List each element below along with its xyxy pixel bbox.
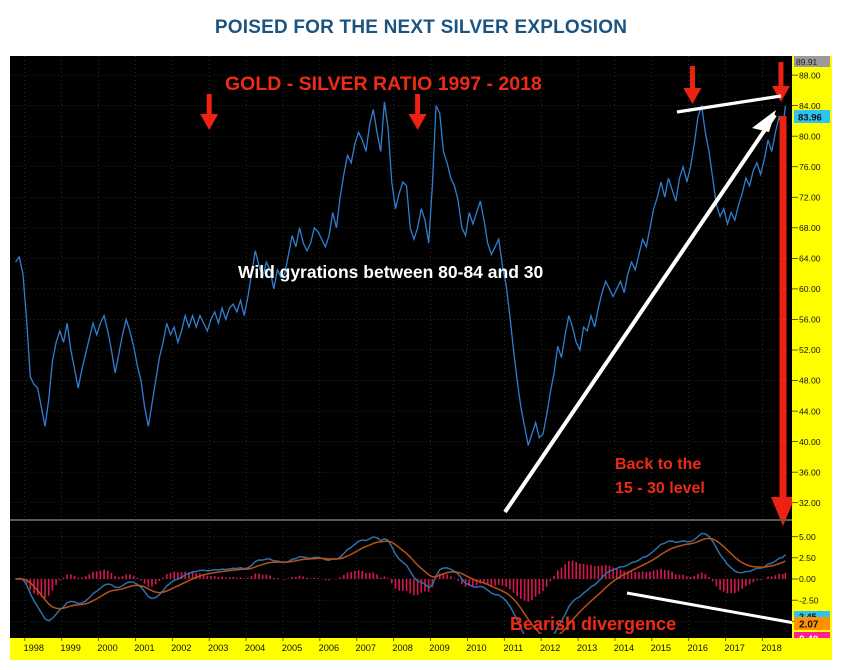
date-tick-label: 2014	[614, 643, 634, 653]
price-tick-label: 40.00	[799, 437, 821, 447]
date-tick-label: 2010	[466, 643, 486, 653]
date-tick-label: 2003	[208, 643, 228, 653]
macd-value-label: 2.07	[799, 620, 819, 631]
wild-gyrations-note: Wild gyrations between 80-84 and 30	[238, 262, 543, 282]
price-tick-label: 44.00	[799, 406, 821, 416]
date-tick-label: 2011	[503, 643, 523, 653]
date-tick-label: 2012	[540, 643, 560, 653]
price-tick-label: 48.00	[799, 376, 821, 386]
date-tick-label: 2007	[356, 643, 376, 653]
price-tick-label: 60.00	[799, 284, 821, 294]
date-tick-label: 2013	[577, 643, 597, 653]
price-tick-label: 84.00	[799, 101, 821, 111]
target-note-line2: 15 - 30 level	[615, 480, 705, 497]
top-value-label: 89.91	[796, 57, 818, 67]
date-tick-label: 2006	[319, 643, 339, 653]
price-tick-label: 64.00	[799, 254, 821, 264]
macd-tick-label: 0.00	[799, 574, 816, 584]
price-tick-label: 68.00	[799, 223, 821, 233]
date-tick-label: 2002	[171, 643, 191, 653]
date-tick-label: 2008	[392, 643, 412, 653]
price-tick-label: 80.00	[799, 131, 821, 141]
date-tick-label: 2018	[761, 643, 781, 653]
date-tick-label: 2015	[651, 643, 671, 653]
top-value-badge: 89.91	[794, 56, 830, 67]
date-tick-label: 1998	[24, 643, 44, 653]
price-tick-label: 76.00	[799, 162, 821, 172]
date-tick-label: 2000	[97, 643, 117, 653]
date-axis-overlay: 1998199920002001200220032004200520062007…	[10, 638, 832, 660]
macd-tick-label: -2.50	[799, 595, 819, 605]
price-tick-label: 52.00	[799, 345, 821, 355]
chart-container: GOLD - SILVER RATIO 1997 - 2018 Wild gyr…	[10, 56, 832, 660]
macd-tick-label: 2.50	[799, 553, 816, 563]
last-value-badge: 83.96	[794, 110, 830, 124]
last-value-label: 83.96	[798, 113, 822, 124]
chart-title: GOLD - SILVER RATIO 1997 - 2018	[225, 73, 542, 95]
page-title: POISED FOR THE NEXT SILVER EXPLOSION	[0, 0, 842, 39]
price-axis-background[interactable]	[792, 56, 832, 660]
date-tick-label: 2001	[134, 643, 154, 653]
price-tick-label: 32.00	[799, 498, 821, 508]
target-note-line1: Back to the	[615, 456, 701, 473]
price-tick-label: 88.00	[799, 70, 821, 80]
date-tick-label: 2009	[429, 643, 449, 653]
gold-silver-ratio-chart: GOLD - SILVER RATIO 1997 - 2018 Wild gyr…	[10, 56, 832, 660]
price-tick-label: 56.00	[799, 315, 821, 325]
macd-value-badge: 2.07	[794, 617, 830, 631]
date-tick-label: 2005	[282, 643, 302, 653]
bearish-divergence-note: Bearish divergence	[510, 614, 676, 634]
price-axis[interactable]: 32.0036.0040.0044.0048.0052.0056.0060.00…	[792, 56, 832, 660]
date-tick-label: 2004	[245, 643, 265, 653]
date-tick-label: 2017	[724, 643, 744, 653]
panel-divider	[10, 519, 792, 521]
date-tick-label: 1999	[60, 643, 80, 653]
price-tick-label: 36.00	[799, 467, 821, 477]
date-tick-label: 2016	[687, 643, 707, 653]
macd-tick-label: 5.00	[799, 532, 816, 542]
price-tick-label: 72.00	[799, 193, 821, 203]
